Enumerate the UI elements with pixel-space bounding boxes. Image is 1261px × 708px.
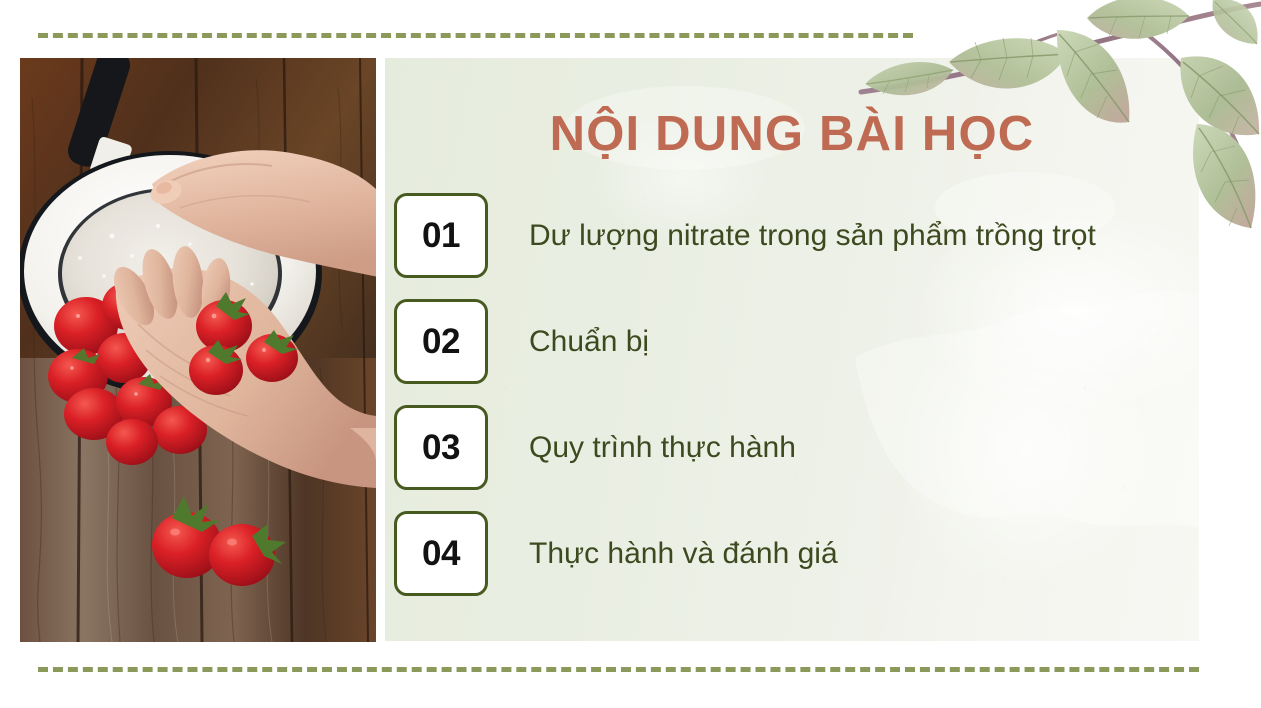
item-label: Thực hành và đánh giá: [529, 511, 838, 596]
item-number: 01: [422, 218, 460, 253]
item-number-badge: 03: [394, 405, 488, 490]
item-number: 02: [422, 324, 460, 359]
list-item[interactable]: 04 Thực hành và đánh giá: [394, 511, 1199, 617]
item-label: Chuẩn bị: [529, 299, 649, 384]
item-number: 03: [422, 430, 460, 465]
list-item[interactable]: 02 Chuẩn bị: [394, 299, 1199, 405]
content-panel: NỘI DUNG BÀI HỌC 01 Dư lượng nitrate tro…: [385, 58, 1199, 641]
strawberries-photo: [20, 58, 376, 642]
page-title: NỘI DUNG BÀI HỌC: [385, 106, 1199, 162]
item-number-badge: 04: [394, 511, 488, 596]
bottom-dashed-divider: [38, 667, 1199, 672]
item-number-badge: 01: [394, 193, 488, 278]
lesson-contents-list: 01 Dư lượng nitrate trong sản phẩm trồng…: [394, 193, 1199, 617]
item-number: 04: [422, 536, 460, 571]
top-dashed-divider: [38, 33, 913, 38]
item-number-badge: 02: [394, 299, 488, 384]
item-label: Quy trình thực hành: [529, 405, 796, 490]
slide-canvas: NỘI DUNG BÀI HỌC 01 Dư lượng nitrate tro…: [0, 0, 1261, 708]
item-label: Dư lượng nitrate trong sản phẩm trồng tr…: [529, 193, 1096, 278]
list-item[interactable]: 03 Quy trình thực hành: [394, 405, 1199, 511]
list-item[interactable]: 01 Dư lượng nitrate trong sản phẩm trồng…: [394, 193, 1199, 299]
